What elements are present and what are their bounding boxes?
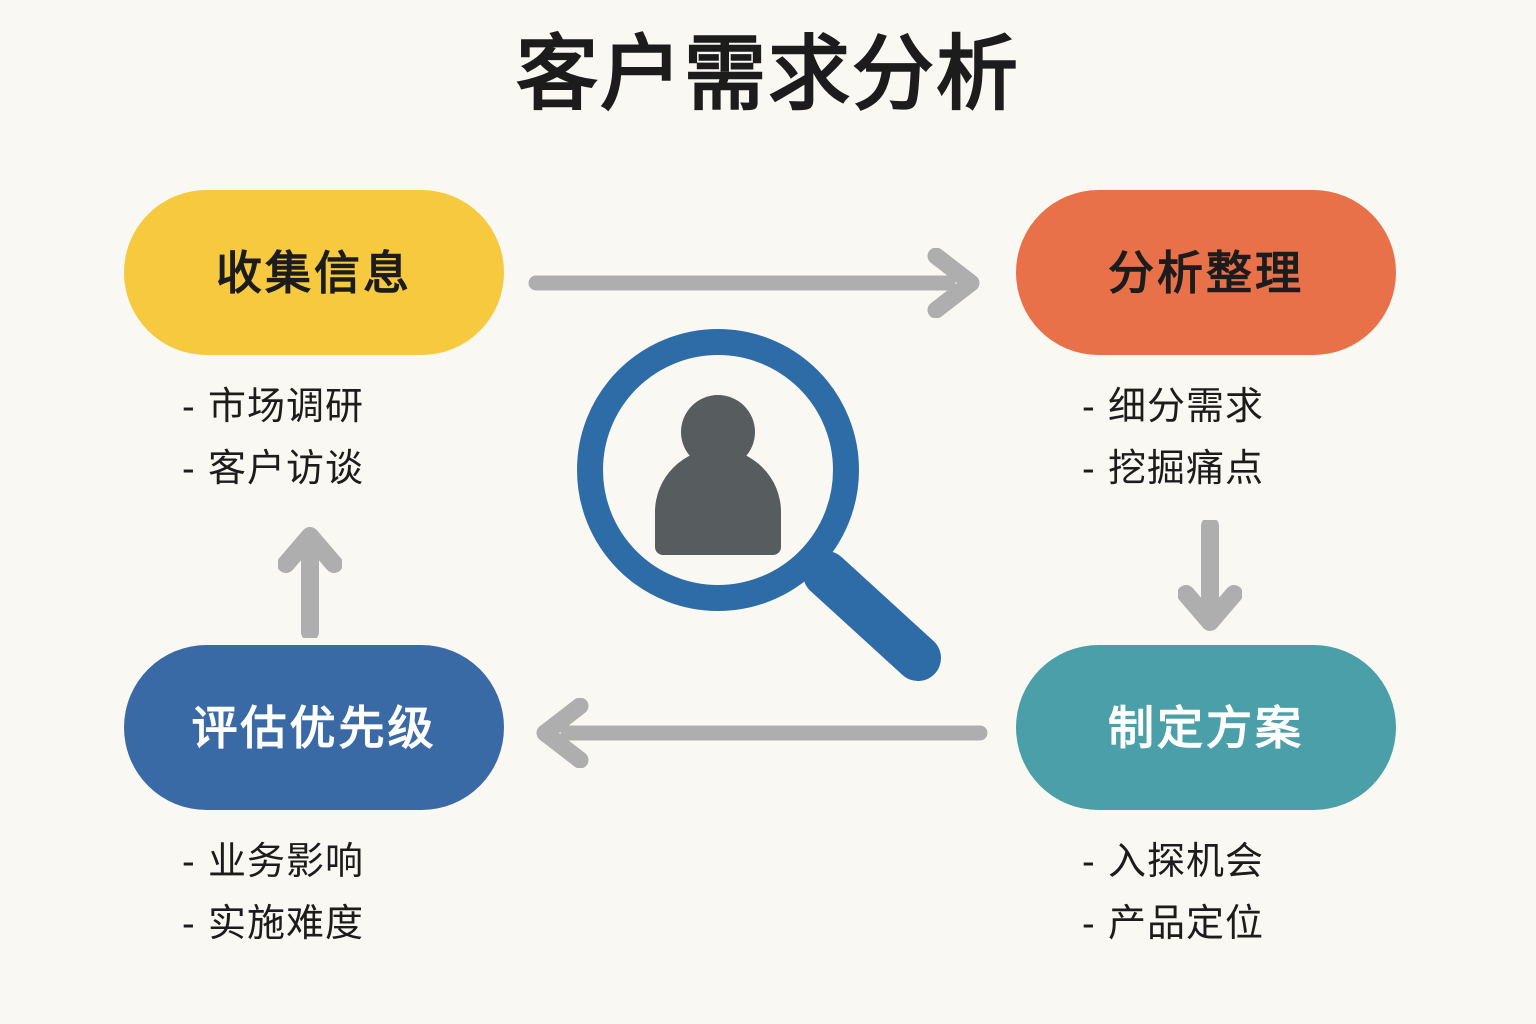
bullet-text: 产品定位 bbox=[1108, 903, 1264, 945]
node-analyze-organize[interactable]: 分析整理 -细分需求 -挖掘痛点 bbox=[1016, 190, 1396, 500]
node-collect-info[interactable]: 收集信息 -市场调研 -客户访谈 bbox=[124, 190, 504, 500]
bullet-marker: - bbox=[1082, 894, 1108, 956]
node-formulate-plan[interactable]: 制定方案 -入探机会 -产品定位 bbox=[1016, 645, 1396, 955]
bullet-item: -产品定位 bbox=[1082, 894, 1396, 956]
bullet-text: 实施难度 bbox=[208, 903, 364, 945]
bullet-text: 入探机会 bbox=[1108, 841, 1264, 883]
arrow-up-icon bbox=[278, 520, 342, 643]
diagram-canvas: 客户需求分析 收集信息 -市场调研 -客户访谈 分析整理 -细分需求 -挖掘痛点 bbox=[0, 0, 1536, 1024]
node-pill-formulate-plan[interactable]: 制定方案 bbox=[1016, 645, 1396, 810]
bullet-text: 市场调研 bbox=[208, 386, 364, 428]
bullet-item: -入探机会 bbox=[1082, 832, 1396, 894]
bullet-item: -细分需求 bbox=[1082, 377, 1396, 439]
arrow-right-icon bbox=[528, 248, 988, 323]
node-pill-collect-info[interactable]: 收集信息 bbox=[124, 190, 504, 355]
page-title: 客户需求分析 bbox=[0, 30, 1536, 120]
node-label-analyze-organize: 分析整理 bbox=[1108, 250, 1304, 296]
bullet-text: 挖掘痛点 bbox=[1108, 448, 1264, 490]
bullet-item: -实施难度 bbox=[182, 894, 504, 956]
node-bullets-formulate-plan: -入探机会 -产品定位 bbox=[1016, 832, 1396, 955]
arrow-down-icon bbox=[1178, 520, 1242, 643]
bullet-marker: - bbox=[1082, 439, 1108, 501]
node-assess-priority[interactable]: 评估优先级 -业务影响 -实施难度 bbox=[124, 645, 504, 955]
node-bullets-analyze-organize: -细分需求 -挖掘痛点 bbox=[1016, 377, 1396, 500]
node-bullets-assess-priority: -业务影响 -实施难度 bbox=[124, 832, 504, 955]
bullet-item: -业务影响 bbox=[182, 832, 504, 894]
bullet-item: -客户访谈 bbox=[182, 439, 504, 501]
bullet-marker: - bbox=[1082, 377, 1108, 439]
bullet-item: -挖掘痛点 bbox=[1082, 439, 1396, 501]
node-pill-analyze-organize[interactable]: 分析整理 bbox=[1016, 190, 1396, 355]
bullet-marker: - bbox=[182, 439, 208, 501]
node-label-formulate-plan: 制定方案 bbox=[1108, 705, 1304, 751]
arrow-left-icon bbox=[528, 698, 988, 773]
node-label-collect-info: 收集信息 bbox=[216, 250, 412, 296]
bullet-marker: - bbox=[182, 377, 208, 439]
node-bullets-collect-info: -市场调研 -客户访谈 bbox=[124, 377, 504, 500]
magnifier-person-icon bbox=[570, 322, 960, 697]
bullet-text: 细分需求 bbox=[1108, 386, 1264, 428]
node-label-assess-priority: 评估优先级 bbox=[192, 705, 437, 751]
bullet-item: -市场调研 bbox=[182, 377, 504, 439]
bullet-marker: - bbox=[182, 894, 208, 956]
bullet-marker: - bbox=[182, 832, 208, 894]
bullet-text: 客户访谈 bbox=[208, 448, 364, 490]
node-pill-assess-priority[interactable]: 评估优先级 bbox=[124, 645, 504, 810]
bullet-text: 业务影响 bbox=[208, 841, 364, 883]
bullet-marker: - bbox=[1082, 832, 1108, 894]
